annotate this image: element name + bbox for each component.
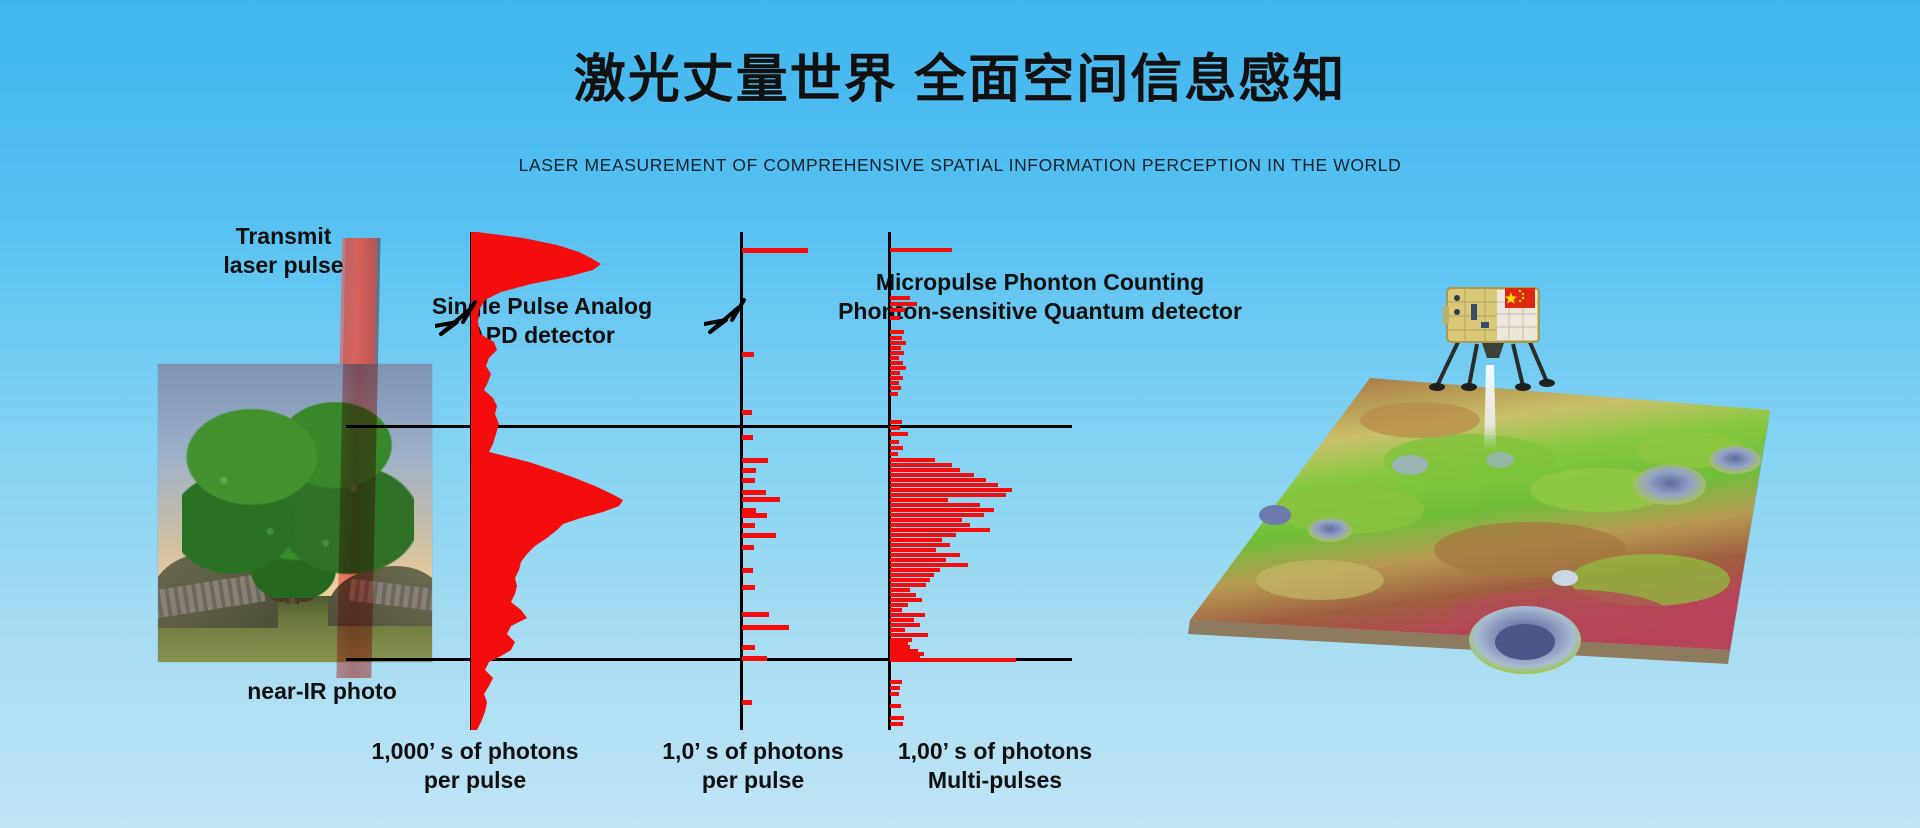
histogram-bar	[742, 645, 755, 650]
histogram-bar	[890, 692, 899, 696]
histogram-bar	[742, 490, 766, 495]
histogram-bar	[890, 426, 900, 430]
page-subtitle: LASER MEASUREMENT OF COMPREHENSIVE SPATI…	[0, 155, 1920, 176]
histogram-bar	[890, 498, 948, 502]
histogram-bar	[890, 336, 902, 340]
histogram-bar	[890, 558, 946, 562]
histogram-bar	[890, 722, 903, 726]
lunar-lander-icon	[1425, 282, 1557, 400]
histogram-bar	[890, 548, 936, 552]
histogram-bar	[742, 513, 767, 518]
histogram-bar	[890, 538, 942, 542]
label-near-ir-photo: near-IR photo	[212, 677, 432, 706]
histogram-bar	[890, 578, 930, 582]
histogram-bar	[890, 508, 994, 512]
histogram-bar	[890, 302, 917, 306]
histogram-bar	[742, 625, 789, 630]
histogram-bar	[890, 563, 968, 567]
histogram-bar	[890, 593, 916, 597]
histogram-bar	[890, 376, 903, 380]
axis-break-single-icon	[704, 290, 784, 340]
histogram-bar	[890, 608, 902, 612]
histogram-bar	[742, 533, 776, 538]
histogram-bar	[890, 361, 903, 365]
histogram-bar	[742, 497, 780, 502]
histogram-bar	[890, 468, 960, 472]
histogram-bar	[890, 351, 904, 355]
histogram-bar	[890, 493, 1006, 497]
histogram-bar	[890, 716, 904, 720]
histogram-bar	[890, 680, 902, 684]
histogram-bar	[890, 513, 984, 517]
histogram-bar	[890, 432, 908, 436]
histogram-bar	[742, 700, 752, 705]
histogram-bar	[890, 533, 956, 537]
histogram-bar	[890, 588, 910, 592]
histogram-bar	[890, 356, 899, 360]
histogram-bar	[890, 528, 990, 532]
histogram-bar	[742, 478, 755, 483]
histogram-bar	[890, 583, 926, 587]
histogram-bar	[890, 518, 962, 522]
label-transmit-laser-pulse: Transmit laser pulse	[176, 222, 391, 281]
histogram-bar	[742, 410, 752, 415]
histogram-bar	[890, 686, 900, 690]
histogram-bar	[890, 603, 908, 607]
photo-tree-canopy	[182, 402, 414, 598]
histogram-bar	[742, 352, 754, 357]
poster-canvas: 激光丈量世界 全面空间信息感知 LASER MEASUREMENT OF COM…	[0, 0, 1920, 828]
axis-break-analog-icon	[435, 292, 515, 342]
histogram-bar	[742, 585, 755, 590]
histogram-bar	[742, 468, 756, 473]
caption-analog-photons: 1,000’ s of photons per pulse	[330, 737, 620, 796]
histogram-bar	[890, 366, 906, 370]
histogram-bar	[890, 386, 901, 390]
page-title: 激光丈量世界 全面空间信息感知	[0, 52, 1920, 109]
histogram-bar	[742, 248, 808, 253]
histogram-bar	[890, 473, 974, 477]
near-ir-photo-image	[158, 364, 432, 662]
histogram-bar	[890, 458, 935, 462]
caption-multipulse-photons: 1,00’ s of photons Multi-pulses	[850, 737, 1140, 796]
histogram-bar	[890, 633, 928, 637]
histogram-bar	[890, 316, 900, 320]
histogram-bar	[890, 483, 998, 487]
histogram-bar	[890, 296, 910, 300]
histogram-bar	[890, 503, 980, 507]
histogram-bar	[742, 612, 769, 617]
histogram-bar	[742, 458, 768, 463]
histogram-bar	[890, 381, 899, 385]
histogram-bar	[890, 613, 925, 617]
histogram-bar	[890, 488, 1012, 492]
histogram-bar	[890, 463, 952, 467]
histogram-bar	[890, 446, 903, 450]
histogram-bar	[890, 346, 901, 350]
histogram-bar	[890, 628, 905, 632]
histogram-bar	[890, 440, 899, 444]
histogram-bar	[890, 553, 960, 557]
histogram-bar	[890, 523, 970, 527]
histogram-bar	[890, 568, 940, 572]
histogram-bar	[890, 452, 898, 456]
histogram-bar	[890, 420, 902, 424]
histogram-bar	[890, 308, 905, 312]
histogram-bar	[890, 478, 986, 482]
histogram-bar	[890, 573, 934, 577]
histogram-bar	[890, 371, 900, 375]
histogram-bar	[890, 392, 898, 396]
histogram-bar	[742, 656, 767, 661]
histogram-bar	[742, 435, 753, 440]
histogram-bar	[890, 598, 922, 602]
histogram-bar	[890, 658, 1016, 662]
histogram-bar	[742, 568, 753, 573]
histogram-bar	[890, 704, 901, 708]
histogram-bar	[890, 543, 950, 547]
canopy-reference-line	[346, 425, 1072, 428]
histogram-bar	[890, 248, 952, 252]
histogram-bar	[890, 623, 920, 627]
histogram-bar	[742, 545, 754, 550]
histogram-bar	[890, 330, 904, 334]
histogram-bar	[890, 618, 914, 622]
histogram-bar	[890, 341, 906, 345]
histogram-bar	[742, 523, 755, 528]
